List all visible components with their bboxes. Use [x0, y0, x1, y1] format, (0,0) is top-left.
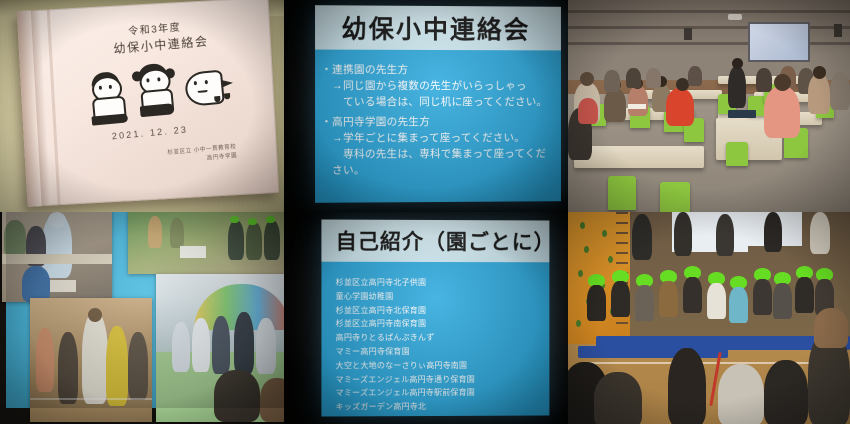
photo-figure	[170, 218, 184, 248]
chair	[726, 142, 748, 166]
adult	[716, 214, 734, 256]
adult	[674, 212, 692, 256]
attendee-pink	[764, 86, 800, 138]
photo-figure	[246, 222, 262, 260]
photo-figure	[234, 312, 254, 374]
slide-line: ・高円寺学園の先生方	[321, 114, 555, 130]
attendee	[626, 68, 641, 88]
child-body	[753, 279, 772, 315]
girl-eye-left	[146, 78, 149, 82]
photo-figure	[192, 318, 210, 372]
speaker-box	[834, 24, 842, 37]
slide-photo-cooking	[2, 212, 112, 302]
photo-sign	[180, 246, 206, 258]
photo-figure-foreground	[214, 370, 260, 422]
projector-unit	[728, 14, 742, 20]
projection-screen-photos	[6, 212, 284, 408]
attendee-standing	[728, 66, 746, 108]
photo-figure	[128, 332, 148, 400]
illustration-boy	[84, 70, 133, 128]
slide-photo-parachute	[156, 274, 284, 422]
photo-figure	[264, 220, 280, 260]
panel-booklet: 令和3年度 幼保小中連絡会	[0, 0, 284, 212]
photo-figure	[4, 220, 26, 256]
crocodile-foot-2	[224, 93, 231, 100]
child-body	[587, 285, 606, 321]
climbing-hold	[578, 270, 583, 277]
ceiling-beam	[568, 10, 850, 13]
slide-photo-gym	[30, 298, 152, 422]
attendee-head	[580, 72, 594, 86]
slide-line: 専科の先生は、専科で集まって座ってくだ	[321, 146, 555, 163]
climbing-hold	[576, 320, 581, 327]
attendee	[688, 66, 702, 86]
table	[574, 146, 704, 168]
photo-floor-line	[30, 398, 152, 400]
climbing-hold	[580, 222, 585, 229]
panel-slide-greeting: 幼保小中連絡会 ・連携園の先生方 →同じ園から複数の先生がいらっしゃっ ている場…	[284, 0, 568, 212]
green-cap	[248, 218, 257, 225]
attendee	[604, 70, 620, 92]
girl-legs	[140, 103, 175, 117]
photo-figure-head	[48, 212, 66, 228]
green-cap	[266, 216, 275, 223]
panel-slide-intro: 自己紹介（園ごとに） 杉並区立高円寺北子供園 童心学園幼稚園 杉並区立高円寺北保…	[284, 212, 568, 424]
photo-figure	[82, 312, 108, 404]
climbing-hold	[602, 230, 607, 237]
boy-legs	[91, 113, 128, 125]
photo-figure	[212, 316, 230, 374]
child-body	[611, 281, 630, 317]
list-item: マミー高円寺保育園	[336, 345, 544, 359]
list-item: 杉並区立高円寺北保育園	[336, 304, 544, 318]
climbing-hold	[584, 246, 589, 253]
photo-figure	[228, 220, 244, 260]
slide-line: →同じ園から複数の先生がいらっしゃっ	[321, 78, 555, 94]
illustration-crocodile	[184, 66, 242, 115]
photo-figure-foreground	[260, 378, 284, 422]
slide-line: さい。	[321, 162, 555, 179]
slide-line: →学年ごとに集まって座ってください。	[321, 130, 555, 147]
slide-photo-lineup	[128, 212, 284, 274]
slide-intro-title: 自己紹介（園ごとに）	[336, 226, 550, 257]
list-item: マミーズエンジェル高円寺駅前保育園	[336, 386, 544, 401]
slide-greeting-body: ・連携園の先生方 →同じ園から複数の先生がいらっしゃっ ている場合は、同じ机に座…	[315, 50, 561, 179]
slide-intro-list: 杉並区立高円寺北子供園 童心学園幼稚園 杉並区立高円寺北保育園 杉並区立高円寺南…	[321, 262, 549, 417]
list-item: 大空と大地のなーさりぃ高円寺南園	[336, 359, 544, 373]
chair	[660, 182, 690, 212]
list-item: 童心学園幼稚園	[336, 290, 544, 304]
attendee-head	[774, 74, 791, 91]
attendee	[756, 68, 772, 92]
attendee-red-jacket	[666, 88, 694, 126]
attendee-head	[813, 66, 826, 79]
photo-figure	[106, 326, 128, 406]
photo-figure	[58, 332, 78, 404]
booklet-cover: 令和3年度 幼保小中連絡会	[17, 0, 280, 207]
papers-on-table	[628, 104, 646, 109]
photo-figure	[172, 322, 190, 372]
list-item: キッズガーデン高円寺北	[336, 400, 544, 415]
audience-foreground	[668, 348, 706, 424]
adult	[810, 212, 830, 254]
child-body	[707, 283, 726, 319]
gymnasium	[568, 212, 850, 424]
child-body	[659, 281, 678, 317]
booklet-footer: 杉並区立 小中一貫教育校 高円寺学園	[117, 143, 238, 172]
green-cap	[230, 216, 239, 223]
attendee	[628, 86, 648, 116]
slide-line: ている場合は、同じ机に座ってください。	[321, 94, 555, 110]
photo-figure	[148, 216, 162, 248]
photo-figure-head	[88, 308, 102, 322]
photo-tray	[50, 280, 76, 292]
list-item: 杉並区立高円寺南保育園	[336, 317, 544, 331]
slide-title-bar: 幼保小中連絡会	[315, 5, 561, 50]
slide-line: ・連携園の先生方	[321, 62, 555, 79]
audience-foreground	[814, 308, 848, 348]
audience-foreground	[594, 372, 642, 424]
attendee	[830, 72, 850, 110]
panel-slide-photos	[0, 212, 284, 424]
slide-title-bar: 自己紹介（園ごとに）	[321, 219, 549, 262]
attendee	[578, 98, 598, 124]
chair	[608, 176, 636, 210]
cover-illustration	[79, 52, 244, 128]
list-item: マミーズエンジェル高円寺通り保育園	[336, 372, 544, 386]
attendee	[604, 88, 626, 122]
photo-collage: 令和3年度 幼保小中連絡会	[0, 0, 850, 424]
speaker-box	[684, 28, 692, 40]
photo-counter	[2, 254, 112, 264]
list-item: 杉並区立高円寺北子供園	[336, 276, 544, 290]
child-body	[683, 277, 702, 313]
child-body	[635, 285, 654, 321]
meeting-room	[568, 0, 850, 212]
attendee	[808, 74, 830, 114]
attendee	[646, 68, 661, 88]
gym-mat	[578, 346, 728, 358]
panel-meeting-room	[568, 0, 850, 212]
illustration-girl	[131, 62, 182, 124]
room-projection-screen	[748, 22, 810, 62]
panel-gym	[568, 212, 850, 424]
audience-foreground	[764, 360, 808, 424]
child-body	[773, 283, 792, 319]
projection-screen-intro: 自己紹介（園ごとに） 杉並区立高円寺北子供園 童心学園幼稚園 杉並区立高円寺北保…	[321, 219, 549, 416]
list-item: 高円寺りとるぱんぷきんず	[336, 331, 544, 345]
child-body	[795, 277, 814, 313]
child-body	[729, 287, 748, 323]
adult	[764, 212, 782, 252]
audience-foreground	[718, 364, 764, 424]
projection-screen-greeting: 幼保小中連絡会 ・連携園の先生方 →同じ園から複数の先生がいらっしゃっ ている場…	[315, 5, 561, 203]
attendee-head	[732, 58, 743, 69]
photo-figure	[256, 318, 276, 374]
adult	[632, 214, 652, 260]
climbing-hold	[608, 256, 613, 263]
photo-figure	[22, 266, 50, 302]
laptop-on-table	[728, 110, 756, 118]
photo-figure	[36, 328, 54, 392]
booklet-date: 2021. 12. 23	[111, 124, 188, 141]
slide-greeting-title: 幼保小中連絡会	[341, 9, 530, 46]
